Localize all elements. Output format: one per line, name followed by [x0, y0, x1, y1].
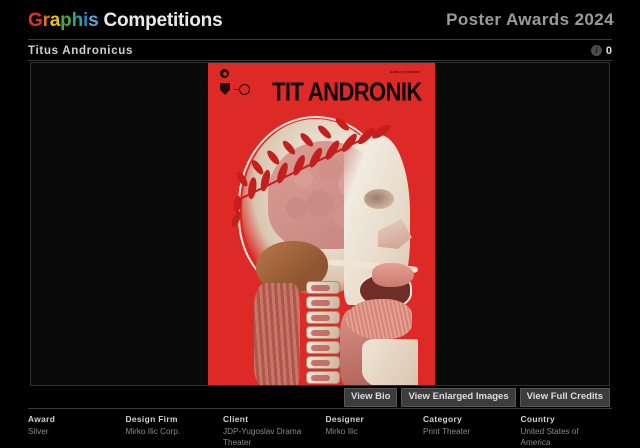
- header-divider: [28, 39, 612, 40]
- footer-divider: [28, 408, 612, 409]
- meta-value: Mirko Ilic: [325, 426, 415, 437]
- circle-mark-icon: [239, 84, 250, 95]
- meta-field-award: Award Silver: [28, 414, 126, 448]
- meta-field-country: Country United States of America: [521, 414, 619, 448]
- meta-label: Client: [223, 414, 317, 424]
- app-header: GraphisCompetitions Poster Awards 2024: [0, 0, 640, 40]
- image-viewer[interactable]: TIT ANDRONIK Autori predstave: [30, 62, 610, 386]
- page-title: Poster Awards 2024: [446, 10, 614, 30]
- graphis-logo[interactable]: GraphisCompetitions: [28, 11, 222, 30]
- meta-label: Award: [28, 414, 118, 424]
- meta-value: Mirko Ilic Corp.: [126, 426, 216, 437]
- meta-label: Country: [521, 414, 611, 424]
- app-root: GraphisCompetitions Poster Awards 2024 T…: [0, 0, 640, 448]
- meta-field-design-firm: Design Firm Mirko Ilic Corp.: [126, 414, 224, 448]
- entry-metadata: Award Silver Design Firm Mirko Ilic Corp…: [28, 414, 618, 448]
- sponsor-logo-primary: [220, 69, 278, 78]
- sponsor-logo-secondary: [220, 83, 278, 95]
- logo-letter-a: a: [50, 10, 60, 31]
- meta-value: Silver: [28, 426, 118, 437]
- meta-label: Design Firm: [126, 414, 216, 424]
- work-title: Titus Andronicus: [28, 45, 133, 57]
- poster-header: TIT ANDRONIK Autori predstave: [208, 63, 435, 119]
- view-count: 0: [606, 45, 612, 57]
- view-full-credits-button[interactable]: View Full Credits: [520, 388, 610, 407]
- view-bio-button[interactable]: View Bio: [344, 388, 397, 407]
- meta-field-category: Category Print Theater: [423, 414, 521, 448]
- logo-letter-p: p: [60, 10, 71, 31]
- poster-credits-heading: Autori predstave: [390, 70, 428, 74]
- subbar-divider: [28, 60, 612, 61]
- logo-letter-s: s: [88, 10, 98, 31]
- poster-sponsor-logos: [220, 69, 278, 95]
- poster-illustration: [232, 113, 418, 386]
- meta-field-client: Client JDP-Yugoslav Drama Theater: [223, 414, 325, 448]
- theater-mark-icon: [220, 69, 229, 78]
- shield-icon: [220, 83, 230, 95]
- logo-letter-h: h: [72, 10, 83, 31]
- viewer-actions: View Bio View Enlarged Images View Full …: [344, 388, 610, 407]
- view-counter[interactable]: i 0: [591, 45, 612, 57]
- meta-value: JDP-Yugoslav Drama Theater: [223, 426, 317, 448]
- logo-letter-g: G: [28, 10, 43, 31]
- work-title-bar: Titus Andronicus i 0: [28, 42, 612, 59]
- meta-value: United States of America: [521, 426, 611, 448]
- poster-title: TIT ANDRONIK: [272, 77, 422, 108]
- meta-label: Category: [423, 414, 513, 424]
- laurel-wreath: [232, 113, 418, 386]
- view-enlarged-images-button[interactable]: View Enlarged Images: [401, 388, 515, 407]
- logo-letter-r: r: [43, 10, 50, 31]
- poster-image[interactable]: TIT ANDRONIK Autori predstave: [208, 63, 435, 386]
- meta-value: Print Theater: [423, 426, 513, 437]
- info-icon[interactable]: i: [591, 45, 602, 56]
- meta-field-designer: Designer Mirko Ilic: [325, 414, 423, 448]
- poster-credits-block: Autori predstave: [390, 70, 428, 80]
- meta-label: Designer: [325, 414, 415, 424]
- logo-word-competitions: Competitions: [103, 10, 222, 31]
